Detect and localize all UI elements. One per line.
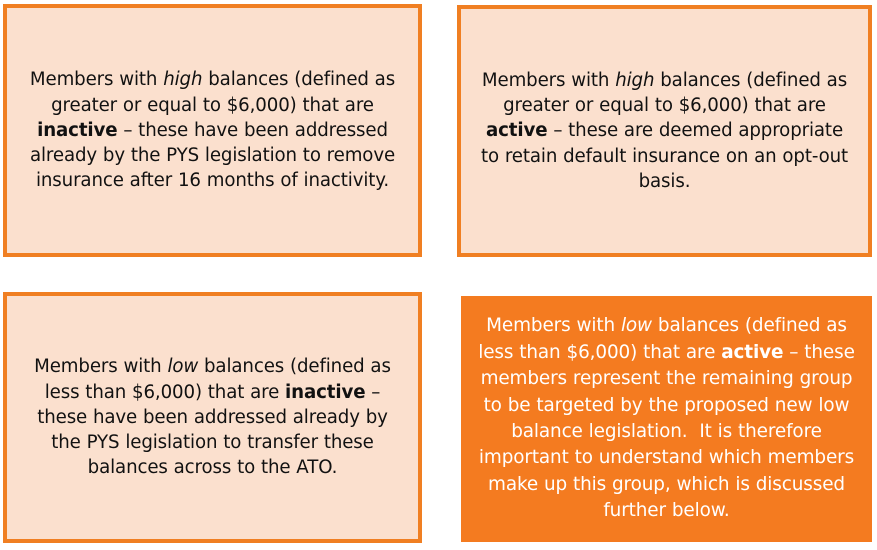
text-run: Members with [482,70,615,91]
emphasis-bold: active [721,342,783,363]
quadrant-box-high-inactive: Members with high balances (defined as g… [3,4,422,257]
quadrant-box-high-active-text: Members with high balances (defined as g… [461,68,868,194]
text-run: – these members represent the remaining … [479,342,861,521]
emphasis-bold: inactive [37,120,117,141]
text-run: Members with [30,69,163,90]
quadrant-box-high-inactive-text: Members with high balances (defined as g… [7,67,418,193]
emphasis-italic: low [167,356,198,377]
quadrant-diagram: Members with high balances (defined as g… [0,0,877,550]
emphasis-italic: high [615,70,654,91]
text-run: Members with [34,356,167,377]
quadrant-box-low-inactive-text: Members with low balances (defined as le… [7,354,418,480]
emphasis-bold: active [486,120,547,141]
quadrant-box-low-active: Members with low balances (defined as le… [461,296,872,542]
emphasis-italic: high [163,69,202,90]
text-run: Members with [486,315,621,336]
quadrant-box-high-active: Members with high balances (defined as g… [457,5,872,257]
emphasis-italic: low [621,315,652,336]
emphasis-bold: inactive [285,382,365,403]
quadrant-box-low-inactive: Members with low balances (defined as le… [3,292,422,543]
quadrant-box-low-active-text: Members with low balances (defined as le… [461,313,872,524]
